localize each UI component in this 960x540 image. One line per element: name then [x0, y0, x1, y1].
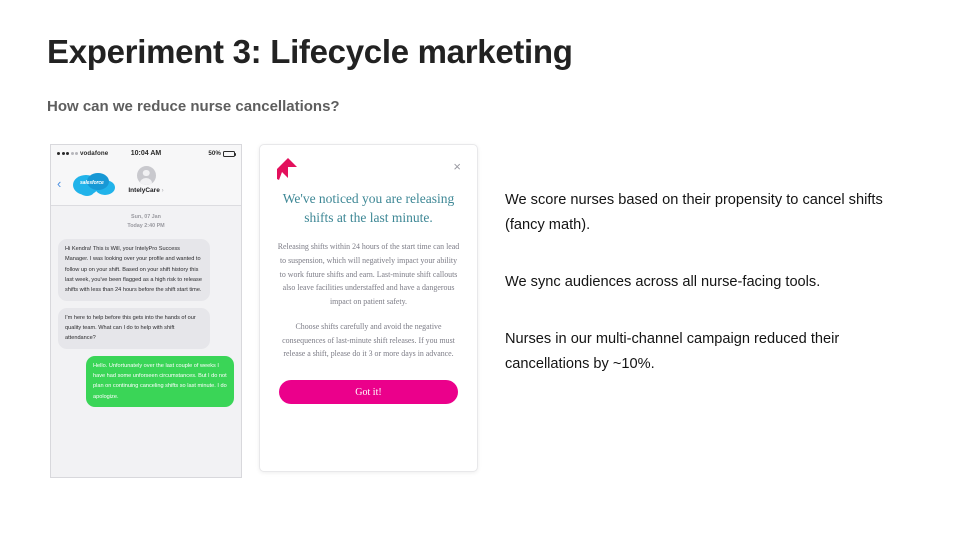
phone-screenshot: vodafone 10:04 AM 50% ‹ salesforce Intel… — [50, 144, 242, 478]
modal-paragraph: Choose shifts carefully and avoid the ne… — [276, 320, 461, 361]
salesforce-logo-text: salesforce — [80, 180, 104, 186]
pink-flag-arrow-icon — [276, 158, 298, 184]
conversation-time: Today 2:40 PM — [58, 222, 234, 231]
contact-name-label: IntelyCare › — [128, 187, 163, 194]
carrier-label: vodafone — [80, 150, 108, 157]
conversation-timestamp: Sun, 07 Jan Today 2:40 PM — [58, 213, 234, 232]
contact-avatar — [137, 166, 156, 185]
page-subtitle: How can we reduce nurse cancellations? — [47, 98, 340, 115]
status-bar-right: 50% — [161, 150, 235, 157]
body-paragraph: We score nurses based on their propensit… — [505, 188, 905, 238]
battery-icon — [223, 151, 235, 157]
signal-strength-icon — [57, 152, 78, 155]
close-icon[interactable]: × — [453, 160, 461, 173]
body-paragraph: Nurses in our multi-channel campaign red… — [505, 327, 905, 377]
message-bubble-outgoing: Hello. Unfortunately over the last coupl… — [86, 356, 234, 407]
modal-headline: We've noticed you are releasing shifts a… — [276, 189, 461, 227]
chat-message-list: Sun, 07 Jan Today 2:40 PM Hi Kendra! Thi… — [51, 206, 241, 407]
body-copy-column: We score nurses based on their propensit… — [505, 188, 905, 377]
modal-header: × — [276, 158, 461, 186]
got-it-button[interactable]: Got it! — [279, 380, 458, 404]
in-app-modal-screenshot: × We've noticed you are releasing shifts… — [259, 144, 478, 472]
page-title: Experiment 3: Lifecycle marketing — [47, 33, 573, 71]
modal-paragraph: Releasing shifts within 24 hours of the … — [276, 240, 461, 308]
contact-name-text: IntelyCare — [128, 187, 159, 194]
phone-status-bar: vodafone 10:04 AM 50% — [51, 145, 241, 162]
status-bar-clock: 10:04 AM — [131, 150, 161, 157]
conversation-date: Sun, 07 Jan — [58, 213, 234, 222]
contact-chevron-icon: › — [162, 188, 164, 194]
status-bar-left: vodafone — [57, 150, 131, 157]
chat-header: ‹ salesforce IntelyCare › — [51, 162, 241, 206]
message-bubble-incoming: I'm here to help before this gets into t… — [58, 308, 210, 349]
body-paragraph: We sync audiences across all nurse-facin… — [505, 270, 905, 295]
battery-percent-label: 50% — [208, 150, 221, 157]
message-bubble-incoming: Hi Kendra! This is Will, your IntelyPro … — [58, 239, 210, 301]
